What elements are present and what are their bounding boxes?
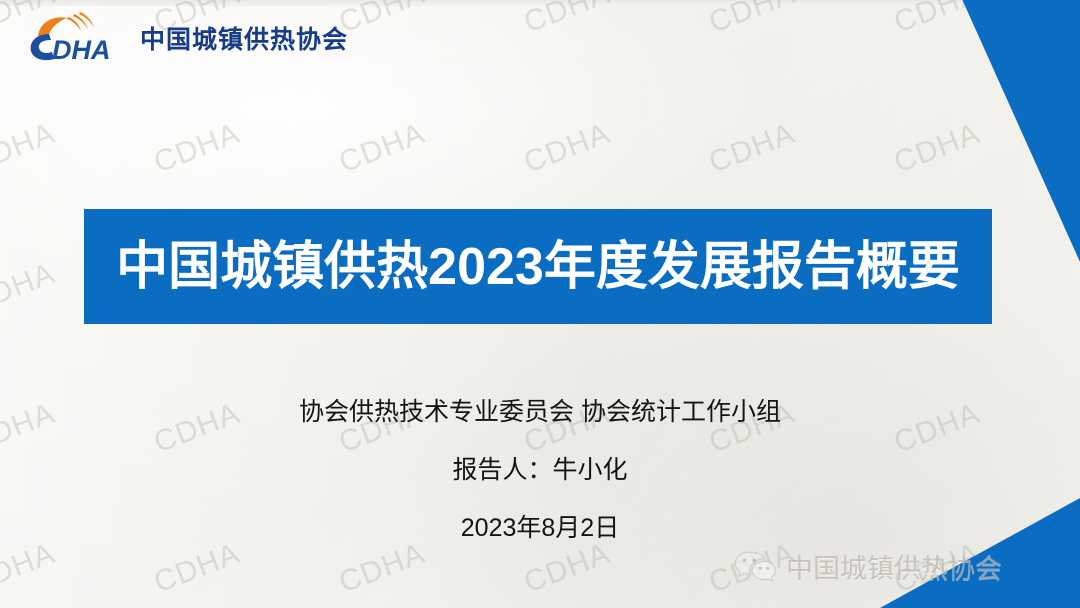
top-edge-band	[0, 0, 1080, 6]
watermark-text: CDHA	[142, 537, 245, 604]
wechat-account-name: 中国城镇供热协会	[786, 547, 1002, 586]
watermark-text: CDHA	[512, 117, 615, 184]
page-title: 中国城镇供热2023年度发展报告概要	[116, 241, 960, 293]
watermark-text: CDHA	[697, 117, 800, 184]
header-logo-group: DHA 中国城镇供热协会	[22, 12, 348, 64]
wechat-account-badge: 中国城镇供热协会	[734, 547, 1002, 586]
title-bar: 中国城镇供热2023年度发展报告概要	[84, 209, 992, 324]
presentation-slide: CDHA CDHA CDHA CDHA CDHA CDHA CDHA CDHA …	[0, 0, 1080, 608]
watermark-text: CDHA	[327, 117, 430, 184]
cdha-flame-logo-icon: DHA	[22, 12, 134, 64]
watermark-text: CDHA	[142, 117, 245, 184]
svg-text:DHA: DHA	[52, 35, 111, 64]
watermark-text: CDHA	[512, 0, 615, 43]
watermark-text: CDHA	[0, 117, 60, 184]
watermark-text: CDHA	[697, 0, 800, 43]
watermark-text: CDHA	[327, 537, 430, 604]
association-name-label: 中国城镇供热协会	[140, 20, 348, 56]
subtitle-block: 协会供热技术专业委员会 协会统计工作小组 报告人：牛小化 2023年8月2日	[0, 392, 1080, 544]
subtitle-line-presenter: 报告人：牛小化	[0, 450, 1080, 486]
subtitle-line-date: 2023年8月2日	[0, 508, 1080, 544]
watermark-text: CDHA	[0, 537, 60, 604]
wechat-icon	[734, 550, 776, 584]
watermark-text: CDHA	[0, 257, 60, 324]
watermark-text: CDHA	[1067, 257, 1080, 324]
watermark-text: CDHA	[512, 537, 615, 604]
subtitle-line-organizations: 协会供热技术专业委员会 协会统计工作小组	[0, 392, 1080, 428]
watermark-text: CDHA	[882, 117, 985, 184]
